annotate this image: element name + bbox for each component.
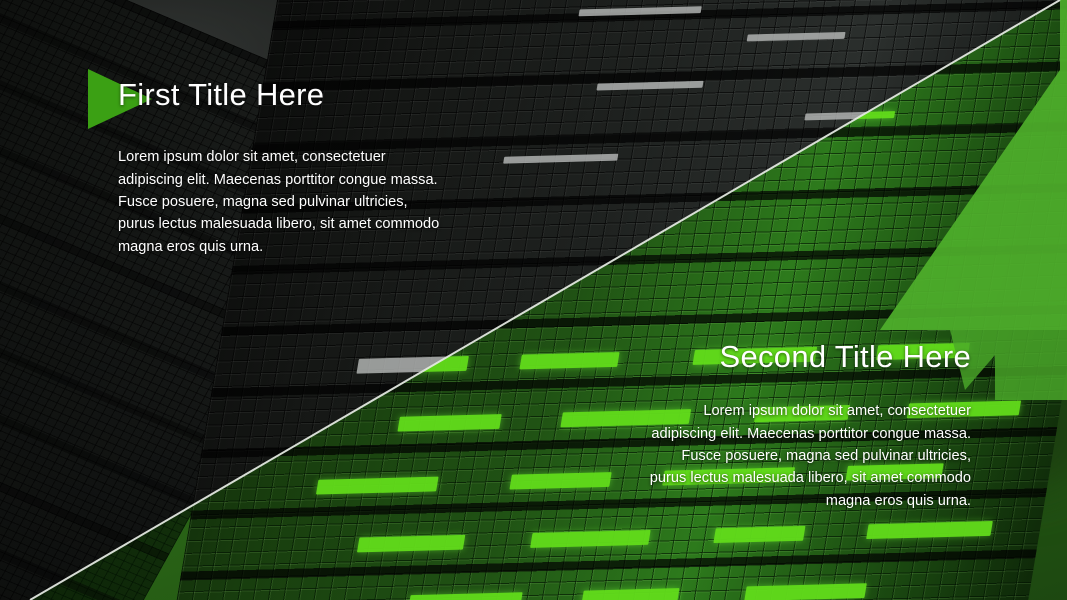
second-body-line: adipiscing elit. Maecenas porttitor cong… [565, 423, 971, 445]
second-body-line: magna eros quis urna. [565, 490, 971, 512]
first-content-block: First Title Here Lorem ipsum dolor sit a… [118, 78, 518, 258]
first-body-line: Lorem ipsum dolor sit amet, consectetuer [118, 146, 518, 168]
first-body-line: Fusce posuere, magna sed pulvinar ultric… [118, 191, 518, 213]
second-content-block: Second Title Here Lorem ipsum dolor sit … [565, 340, 971, 512]
second-body-line: purus lectus malesuada libero, sit amet … [565, 467, 971, 489]
first-body-line: magna eros quis urna. [118, 236, 518, 258]
presentation-slide: First Title Here Lorem ipsum dolor sit a… [0, 0, 1067, 600]
second-title[interactable]: Second Title Here [565, 340, 971, 374]
first-body-line: adipiscing elit. Maecenas porttitor cong… [118, 169, 518, 191]
second-body-line: Fusce posuere, magna sed pulvinar ultric… [565, 445, 971, 467]
second-body[interactable]: Lorem ipsum dolor sit amet, consectetuer… [565, 400, 971, 512]
second-body-line: Lorem ipsum dolor sit amet, consectetuer [565, 400, 971, 422]
first-title[interactable]: First Title Here [118, 78, 518, 112]
first-body-line: purus lectus malesuada libero, sit amet … [118, 213, 518, 235]
first-body[interactable]: Lorem ipsum dolor sit amet, consectetuer… [118, 146, 518, 258]
